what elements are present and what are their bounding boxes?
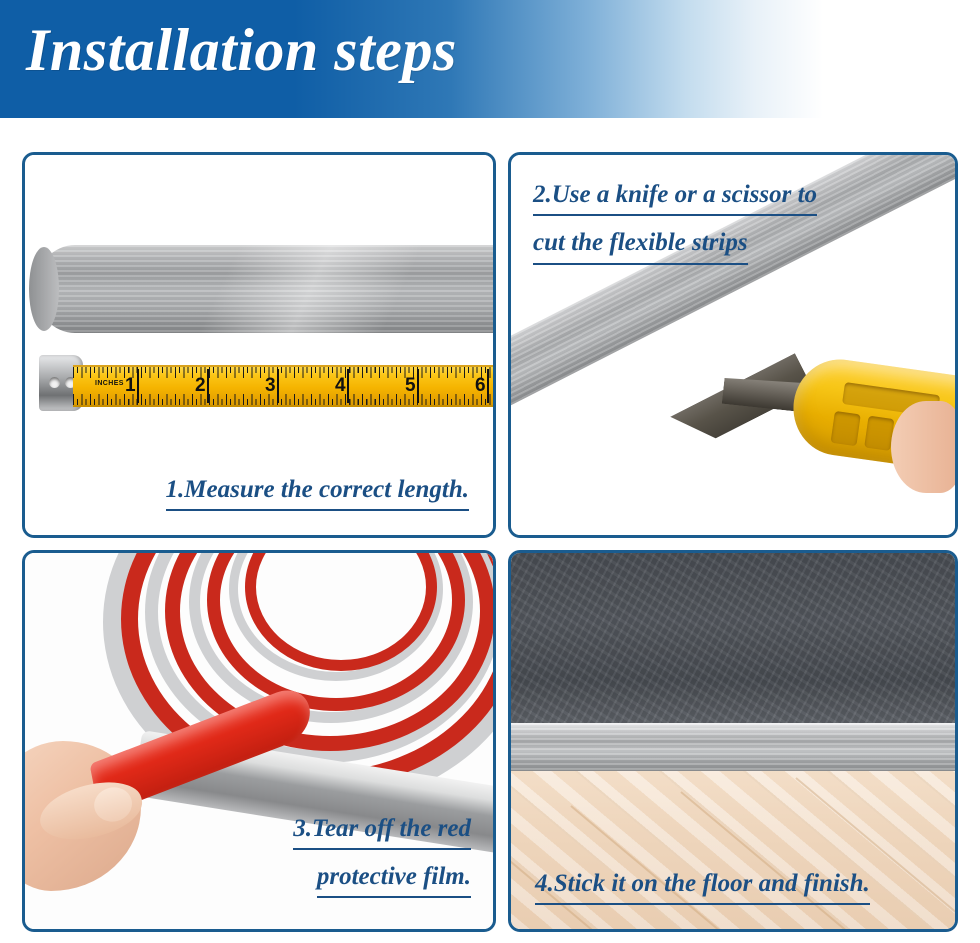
tape-ticks-top-fine xyxy=(73,367,493,373)
tape-major-tick xyxy=(207,369,209,403)
tape-number-3: 3 xyxy=(265,376,276,395)
header-banner: Installation steps xyxy=(0,0,980,118)
step-panel-4: 4.Stick it on the floor and finish. xyxy=(508,550,958,932)
tape-number-2: 2 xyxy=(195,376,206,395)
gray-molding-strip xyxy=(35,245,493,333)
step-3-image: 3.Tear off the red protective film. xyxy=(25,553,493,929)
step-4-caption: 4.Stick it on the floor and finish. xyxy=(535,866,870,905)
step-2-caption-line-2: cut the flexible strips xyxy=(533,225,748,264)
tape-number-1: 1 xyxy=(125,376,136,395)
dark-wall-surface xyxy=(511,553,955,723)
tape-major-tick xyxy=(277,369,279,403)
tape-major-tick xyxy=(347,369,349,403)
hand-thumb xyxy=(891,401,955,493)
step-2-caption: 2.Use a knife or a scissor to cut the fl… xyxy=(533,177,817,274)
step-3-caption: 3.Tear off the red protective film. xyxy=(293,811,471,908)
step-1-caption-line-1: 1.Measure the correct length. xyxy=(166,472,469,511)
step-1-image: INCHES 1 2 3 4 5 6 1.Measure the correct xyxy=(25,155,493,535)
step-panel-2: 2.Use a knife or a scissor to cut the fl… xyxy=(508,152,958,538)
step-4-caption-line-1: 4.Stick it on the floor and finish. xyxy=(535,866,870,905)
step-2-image: 2.Use a knife or a scissor to cut the fl… xyxy=(511,155,955,535)
floor-plank-seam xyxy=(680,791,911,929)
steps-grid: INCHES 1 2 3 4 5 6 1.Measure the correct xyxy=(22,152,958,932)
molding-end-cap xyxy=(29,247,59,331)
installed-gray-trim-strip xyxy=(511,723,955,771)
tape-major-tick xyxy=(137,369,139,403)
step-4-image: 4.Stick it on the floor and finish. xyxy=(511,553,955,929)
handle-grip-slot xyxy=(831,411,861,446)
handle-grip-slot xyxy=(864,416,894,451)
tape-major-tick xyxy=(487,369,489,403)
tape-ticks-bottom-fine xyxy=(73,399,493,405)
tape-number-6: 6 xyxy=(475,376,486,395)
tape-number-4: 4 xyxy=(335,376,346,395)
step-1-caption: 1.Measure the correct length. xyxy=(166,472,469,511)
hook-hole xyxy=(49,377,60,388)
tape-number-5: 5 xyxy=(405,376,416,395)
tape-measure-blade: INCHES 1 2 3 4 5 6 xyxy=(73,365,493,407)
step-2-caption-line-1: 2.Use a knife or a scissor to xyxy=(533,177,817,216)
page-title: Installation steps xyxy=(26,20,457,80)
step-3-caption-line-2: protective film. xyxy=(317,859,471,898)
step-3-caption-line-1: 3.Tear off the red xyxy=(293,811,471,850)
step-panel-1: INCHES 1 2 3 4 5 6 1.Measure the correct xyxy=(22,152,496,538)
step-panel-3: 3.Tear off the red protective film. xyxy=(22,550,496,932)
tape-major-tick xyxy=(417,369,419,403)
wood-floor-surface xyxy=(511,771,955,929)
tape-inches-label: INCHES xyxy=(95,380,124,387)
